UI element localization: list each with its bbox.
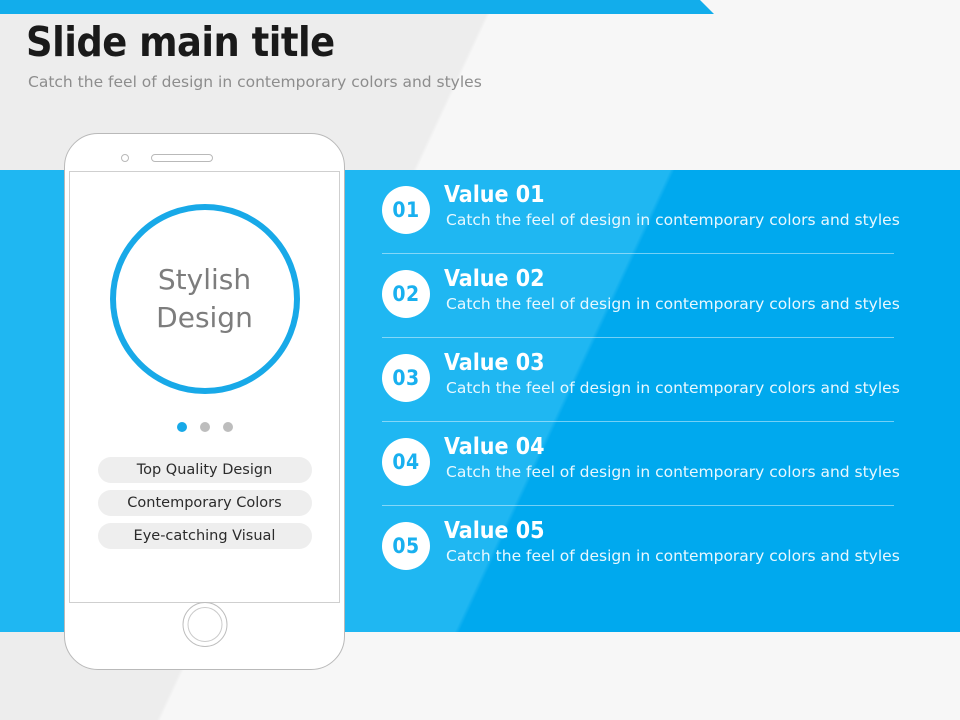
value-text-block: Value 02Catch the feel of design in cont… [444,266,902,314]
circle-label-line-1: Stylish [158,261,251,299]
value-description: Catch the feel of design in contemporary… [446,210,902,230]
value-row[interactable]: 05Value 05Catch the feel of design in co… [382,506,902,590]
value-description: Catch the feel of design in contemporary… [446,294,902,314]
page-title: Slide main title [26,18,706,66]
header: Slide main title Catch the feel of desig… [26,18,706,92]
feature-pill[interactable]: Eye-catching Visual [98,523,312,549]
home-button-inner-ring [187,607,222,642]
feature-pill-list: Top Quality DesignContemporary ColorsEye… [98,457,312,549]
value-title: Value 05 [444,518,902,544]
page-subtitle: Catch the feel of design in contemporary… [28,72,706,92]
phone-mockup: Stylish Design Top Quality DesignContemp… [64,133,345,670]
carousel-dot[interactable] [223,422,233,432]
value-title: Value 01 [444,182,902,208]
value-row[interactable]: 04Value 04Catch the feel of design in co… [382,422,902,506]
camera-icon [121,154,129,162]
value-row[interactable]: 02Value 02Catch the feel of design in co… [382,254,902,338]
slide: Slide main title Catch the feel of desig… [0,0,960,720]
value-text-block: Value 01Catch the feel of design in cont… [444,182,902,230]
value-number-badge: 01 [382,186,430,234]
value-title: Value 02 [444,266,902,292]
value-text-block: Value 04Catch the feel of design in cont… [444,434,902,482]
speaker-icon [151,154,213,162]
phone-screen: Stylish Design Top Quality DesignContemp… [69,171,340,603]
value-description: Catch the feel of design in contemporary… [446,546,902,566]
feature-pill[interactable]: Top Quality Design [98,457,312,483]
feature-pill[interactable]: Contemporary Colors [98,490,312,516]
value-number-badge: 04 [382,438,430,486]
stylish-design-circle: Stylish Design [110,204,300,394]
value-number-badge: 02 [382,270,430,318]
value-title: Value 03 [444,350,902,376]
value-description: Catch the feel of design in contemporary… [446,378,902,398]
value-number-badge: 03 [382,354,430,402]
value-number-badge: 05 [382,522,430,570]
value-description: Catch the feel of design in contemporary… [446,462,902,482]
value-list: 01Value 01Catch the feel of design in co… [382,170,902,632]
carousel-dot-active[interactable] [177,422,187,432]
value-row[interactable]: 01Value 01Catch the feel of design in co… [382,170,902,254]
carousel-dots[interactable] [177,422,233,432]
value-title: Value 04 [444,434,902,460]
circle-label-line-2: Design [156,299,253,337]
value-text-block: Value 03Catch the feel of design in cont… [444,350,902,398]
value-text-block: Value 05Catch the feel of design in cont… [444,518,902,566]
carousel-dot[interactable] [200,422,210,432]
value-row[interactable]: 03Value 03Catch the feel of design in co… [382,338,902,422]
home-button[interactable] [182,602,227,647]
top-accent-bar [0,0,700,14]
